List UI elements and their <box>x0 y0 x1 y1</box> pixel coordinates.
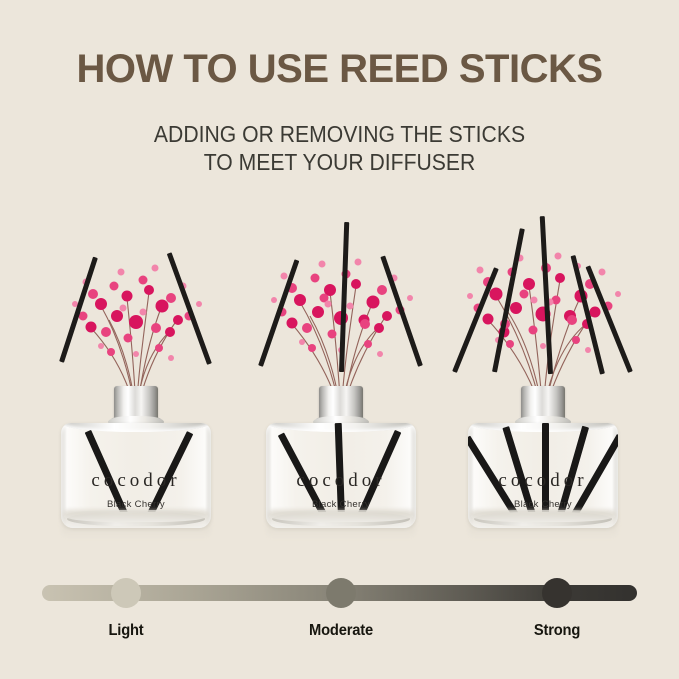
brand-label: cocodor <box>468 470 618 492</box>
slider-label-moderate: Moderate <box>309 622 373 640</box>
bottle-cap <box>114 386 158 419</box>
subtitle-line-2: TO MEET YOUR DIFFUSER <box>27 148 652 176</box>
slider-knob-light[interactable] <box>111 578 141 608</box>
scent-label: Black Cherry <box>468 499 618 510</box>
product-diffuser-strong: cocodor Black Cherry <box>438 228 648 558</box>
slider-label-light: Light <box>108 622 143 640</box>
brand-label: cocodor <box>61 470 211 492</box>
product-diffuser-moderate: cocodor Black Cherry <box>236 228 446 558</box>
diffuser-bottle: cocodor Black Cherry <box>468 386 618 536</box>
scent-label: Black Cherry <box>266 499 416 510</box>
slider-label-strong: Strong <box>534 622 580 640</box>
page-title: HOW TO USE REED STICKS <box>0 48 679 90</box>
scent-label: Black Cherry <box>61 499 211 510</box>
bottle-cap <box>319 386 363 419</box>
infographic-canvas: HOW TO USE REED STICKS ADDING OR REMOVIN… <box>0 0 679 679</box>
diffuser-bottle: cocodor Black Cherry <box>266 386 416 536</box>
slider-knob-strong[interactable] <box>542 578 572 608</box>
page-subtitle: ADDING OR REMOVING THE STICKS TO MEET YO… <box>27 120 652 176</box>
bottle-reflection <box>469 510 617 538</box>
brand-label: cocodor <box>266 470 416 492</box>
bottle-cap <box>521 386 565 419</box>
subtitle-line-1: ADDING OR REMOVING THE STICKS <box>27 120 652 148</box>
diffuser-bottle: cocodor Black Cherry <box>61 386 211 536</box>
bottle-reflection <box>267 510 415 538</box>
product-diffuser-light: cocodor Black Cherry <box>31 228 241 558</box>
intensity-slider[interactable] <box>42 585 637 601</box>
slider-knob-moderate[interactable] <box>326 578 356 608</box>
bottle-reflection <box>62 510 210 538</box>
